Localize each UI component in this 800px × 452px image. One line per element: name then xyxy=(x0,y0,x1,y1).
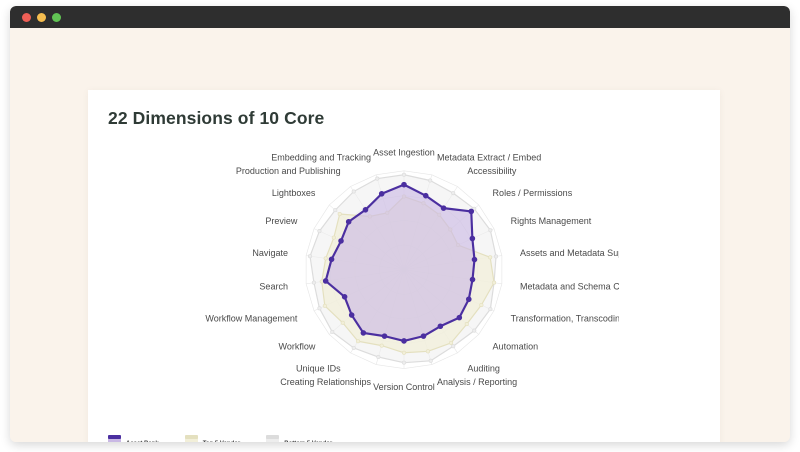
radar-axis-label: Auditing xyxy=(467,363,500,373)
radar-axis-label: Preview xyxy=(265,216,298,226)
radar-axis-label: Unique IDs xyxy=(296,363,341,373)
page-title: 22 Dimensions of 10 Core xyxy=(108,108,324,129)
legend-item-bottom-5-vendor[interactable]: Bottom 5 Vendor xyxy=(266,437,332,442)
minimize-window-icon[interactable] xyxy=(37,13,46,22)
close-window-icon[interactable] xyxy=(22,13,31,22)
radar-axis-label: Metadata Extract / Embed xyxy=(437,152,541,162)
legend-label: Top 5 Vendor xyxy=(203,441,241,443)
legend-item-asset-bank[interactable]: Asset Bank xyxy=(108,437,159,442)
radar-axis-label: Creating Relationships xyxy=(280,377,371,387)
radar-axis-label: Automation xyxy=(493,341,539,351)
traffic-light-group xyxy=(22,13,61,22)
legend-swatch-icon xyxy=(266,437,279,442)
radar-axis-label: Embedding and Tracking xyxy=(271,152,371,162)
legend-label: Bottom 5 Vendor xyxy=(284,441,332,443)
radar-axis-label: Assets and Metadata Support xyxy=(520,248,619,258)
radar-axis-label: Workflow Management xyxy=(205,313,298,323)
radar-axis-label: Workflow xyxy=(279,341,316,351)
radar-axis-label: Rights Management xyxy=(511,216,592,226)
radar-axis-label: Roles / Permissions xyxy=(493,188,573,198)
radar-axis-label: Metadata and Schema Customisation xyxy=(520,281,619,291)
screenshot-root: 22 Dimensions of 10 Core Asset Ingestion… xyxy=(0,0,800,452)
page-background: 22 Dimensions of 10 Core Asset Ingestion… xyxy=(10,28,790,442)
legend-item-top-5-vendor[interactable]: Top 5 Vendor xyxy=(185,437,241,442)
radar-axis-label: Navigate xyxy=(252,248,288,258)
radar-axis-label: Lightboxes xyxy=(272,188,316,198)
radar-chart-svg: Asset IngestionMetadata Extract / EmbedA… xyxy=(189,134,619,414)
browser-window: 22 Dimensions of 10 Core Asset Ingestion… xyxy=(10,6,790,442)
chart-legend: Asset Bank Top 5 Vendor Bottom 5 Vendor xyxy=(108,437,332,442)
radar-axis-label: Production and Publishing xyxy=(236,166,341,176)
radar-axis-label: Analysis / Reporting xyxy=(437,377,517,387)
legend-swatch-icon xyxy=(185,437,198,442)
maximize-window-icon[interactable] xyxy=(52,13,61,22)
radar-axis-label: Version Control xyxy=(373,382,435,392)
window-titlebar xyxy=(10,6,790,28)
radar-axis-label: Asset Ingestion xyxy=(373,148,435,158)
radar-axis-label: Search xyxy=(259,281,288,291)
radar-axis-label: Transformation, Transcoding and Editing xyxy=(511,313,619,323)
chart-card: 22 Dimensions of 10 Core Asset Ingestion… xyxy=(88,90,720,442)
radar-axis-label: Accessibility xyxy=(467,166,517,176)
legend-swatch-icon xyxy=(108,437,121,442)
radar-chart: Asset IngestionMetadata Extract / EmbedA… xyxy=(88,134,720,414)
legend-label: Asset Bank xyxy=(126,441,159,443)
